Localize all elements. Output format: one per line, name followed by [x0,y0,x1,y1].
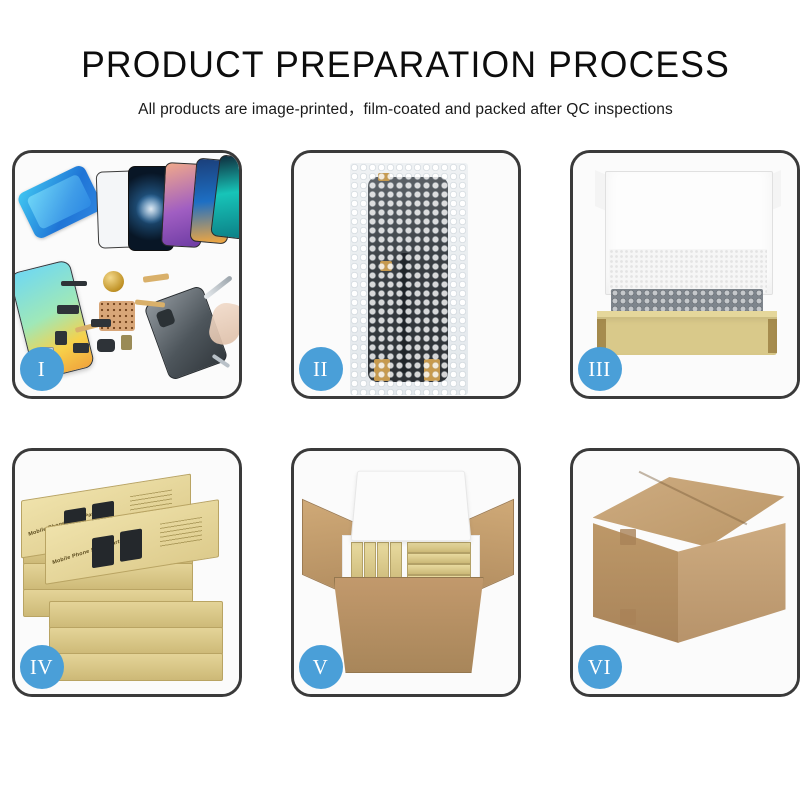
step-badge-2: II [299,347,343,391]
connector-strip [61,281,87,286]
step-panel-5: V [291,448,521,697]
small-part-c [91,319,111,327]
foam-lid [350,471,471,542]
steps-grid: I II [0,150,811,746]
step-badge-1: I [20,347,64,391]
steps-row-bottom: Mobile Phone Spare Parts Mobile Phone Sp… [0,448,811,697]
box-corner-right [768,319,777,353]
step-panel-1: I [12,150,242,399]
step-panel-6: VI [570,448,800,697]
flex-cable-a [142,273,169,283]
small-part-a [55,331,67,345]
carton-left-face [593,523,679,643]
product-preparation-process-infographic: PRODUCT PREPARATION PROCESS All products… [0,0,811,811]
step-panel-4: Mobile Phone Spare Parts Mobile Phone Sp… [12,448,242,697]
vibration-motor [103,271,124,292]
carton-tape-lower [620,609,636,625]
box-stack-right-2 [49,627,223,655]
hand [206,300,241,347]
foam-sheet [609,249,767,293]
box-text-lines-lower [160,517,202,550]
packed-box-5 [407,542,471,553]
box-window-lower-b [120,528,142,561]
step-badge-3: III [578,347,622,391]
step-badge-4: IV [20,645,64,689]
camera-module [57,305,79,314]
step-badge-6: VI [578,645,622,689]
speaker-module [97,339,115,352]
box-window-lower-a [92,535,114,568]
box-stack-right-1 [49,601,223,629]
step-panel-2: II [291,150,521,399]
small-part-b [73,343,89,353]
step-panel-3: III [570,150,800,399]
carton-tape-upper [620,529,636,545]
box-stack-right-3 [49,653,223,681]
packed-box-7 [407,564,471,575]
header: PRODUCT PREPARATION PROCESS All products… [0,0,811,119]
bubble-bag [350,163,468,395]
page-title: PRODUCT PREPARATION PROCESS [16,44,795,86]
adhesive-film [15,163,103,240]
steps-row-top: I II [0,150,811,399]
carton-body [334,577,484,673]
box-base [597,317,777,355]
tweezers-icon [203,275,233,300]
sim-tray [121,335,132,350]
bubble-texture [350,163,468,395]
page-subtitle: All products are image-printed，film-coat… [0,97,811,119]
step-badge-5: V [299,645,343,689]
packed-box-6 [407,553,471,564]
